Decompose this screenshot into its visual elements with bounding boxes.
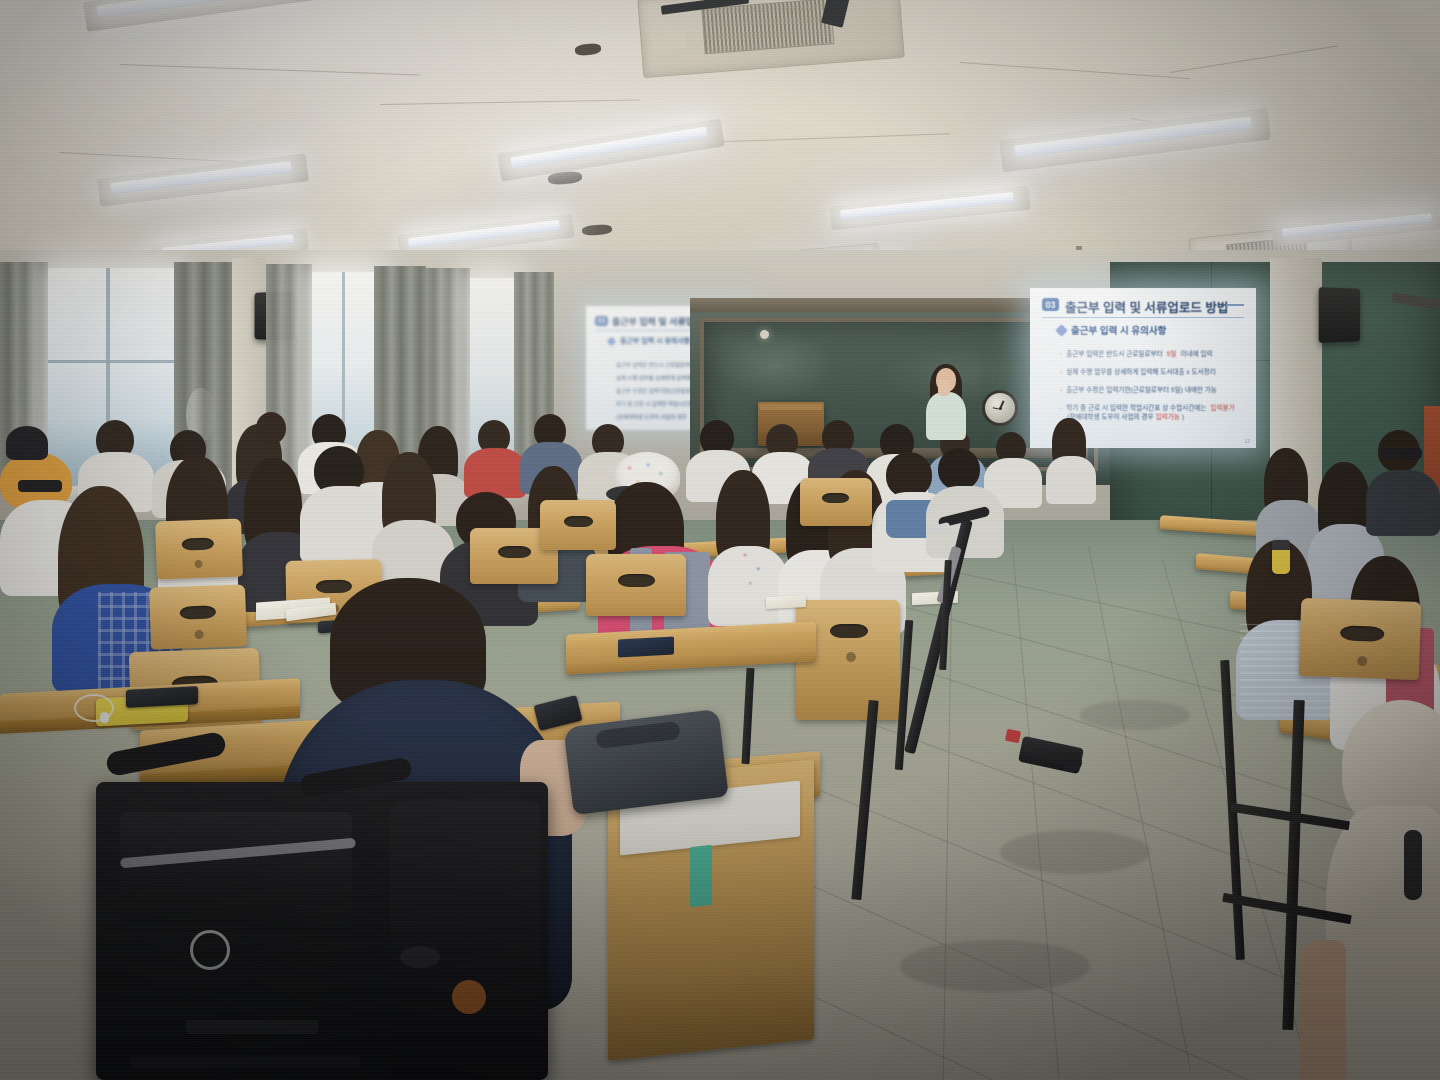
chair [155, 519, 243, 580]
wheelchair-footplate [130, 1056, 360, 1068]
chair [586, 554, 686, 616]
smartphone [126, 686, 198, 708]
chair [1299, 598, 1422, 680]
chalk-smudge [716, 330, 836, 400]
chair [149, 584, 247, 649]
audience-body [1366, 470, 1440, 536]
tumbler [1272, 540, 1290, 574]
earbud [100, 712, 109, 723]
audience-body [1046, 456, 1096, 504]
sticky-tape [690, 845, 712, 907]
floor-scuff [1000, 830, 1150, 874]
eyeglasses [18, 480, 62, 492]
wheelchair-strap [186, 1020, 318, 1034]
bag-strap [1404, 830, 1422, 900]
board-light [760, 330, 769, 339]
floor-scuff [1080, 700, 1190, 730]
wheelchair-backrest [120, 812, 352, 932]
wheelchair-reflector [452, 980, 486, 1014]
floor-scuff [900, 940, 1090, 992]
presenter-hands [938, 380, 950, 396]
cap [6, 426, 48, 460]
leg [1300, 940, 1346, 1080]
audience-head [256, 412, 286, 444]
wall-speaker-right [1319, 287, 1360, 343]
paper-sheet [766, 595, 806, 609]
scooter-accent [1005, 729, 1021, 744]
wall-clock [982, 390, 1018, 426]
wheelchair-ring [190, 930, 230, 970]
eyeglasses [1382, 448, 1422, 459]
audience-body [464, 448, 526, 498]
floral-pattern [736, 540, 772, 600]
notebook [618, 637, 674, 658]
audience-head [938, 448, 980, 490]
lecture-hall-photo: 03 출근부 입력 및 서류업로드 방법 출근부 입력 시 유의사항 출근부 입… [0, 0, 1440, 1080]
presenter-body [926, 392, 966, 440]
chair [540, 500, 616, 550]
chair [800, 478, 872, 526]
wheelchair-badge [400, 946, 440, 968]
wheelchair-side-panel [390, 800, 540, 1080]
scooter-wheel [1062, 752, 1082, 772]
